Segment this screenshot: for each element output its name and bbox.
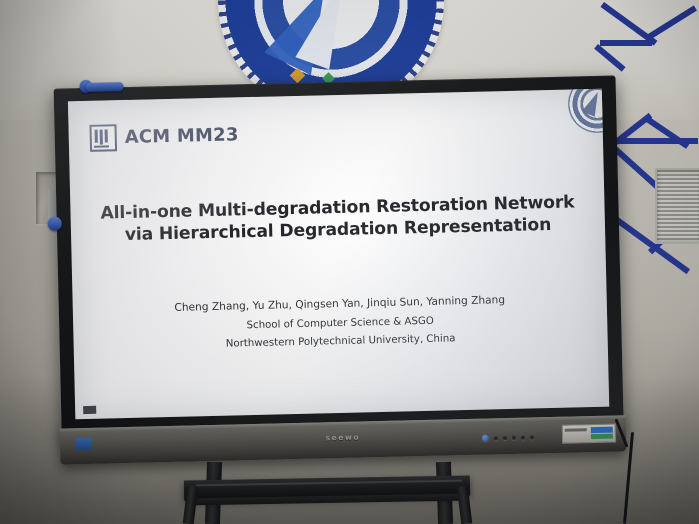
conference-label: ACM MM23 <box>125 124 239 148</box>
acm-logo <box>89 124 117 152</box>
wall-vent-grille <box>655 168 699 244</box>
home-button[interactable] <box>530 435 534 439</box>
author-block: Cheng Zhang, Yu Zhu, Qingsen Yan, Jinqiu… <box>73 289 608 359</box>
chassis-left-sticker <box>76 438 92 450</box>
chassis-spec-sticker <box>562 424 616 444</box>
display-screen[interactable]: ACM MM23 All-in-one Multi-degradation Re… <box>68 89 609 419</box>
slide-header: ACM MM23 <box>89 121 238 151</box>
screen-corner-tag <box>83 406 96 414</box>
watermark-arrow-icon <box>582 89 604 117</box>
wall-trace-3 <box>600 40 652 46</box>
power-button[interactable] <box>482 435 489 442</box>
display-brand-label: seewo <box>325 433 360 443</box>
page-title: All-in-one Multi-degradation Restoration… <box>70 191 605 248</box>
menu-button[interactable] <box>494 436 498 440</box>
bezel-clip-top <box>85 82 123 92</box>
volume-up-button[interactable] <box>521 435 525 439</box>
volume-down-button[interactable] <box>512 435 516 439</box>
interactive-flat-panel-display[interactable]: ACM MM23 All-in-one Multi-degradation Re… <box>54 75 625 468</box>
source-button[interactable] <box>503 436 507 440</box>
display-button-row[interactable] <box>482 433 534 441</box>
photo-scene: ACM MM23 All-in-one Multi-degradation Re… <box>0 0 699 524</box>
